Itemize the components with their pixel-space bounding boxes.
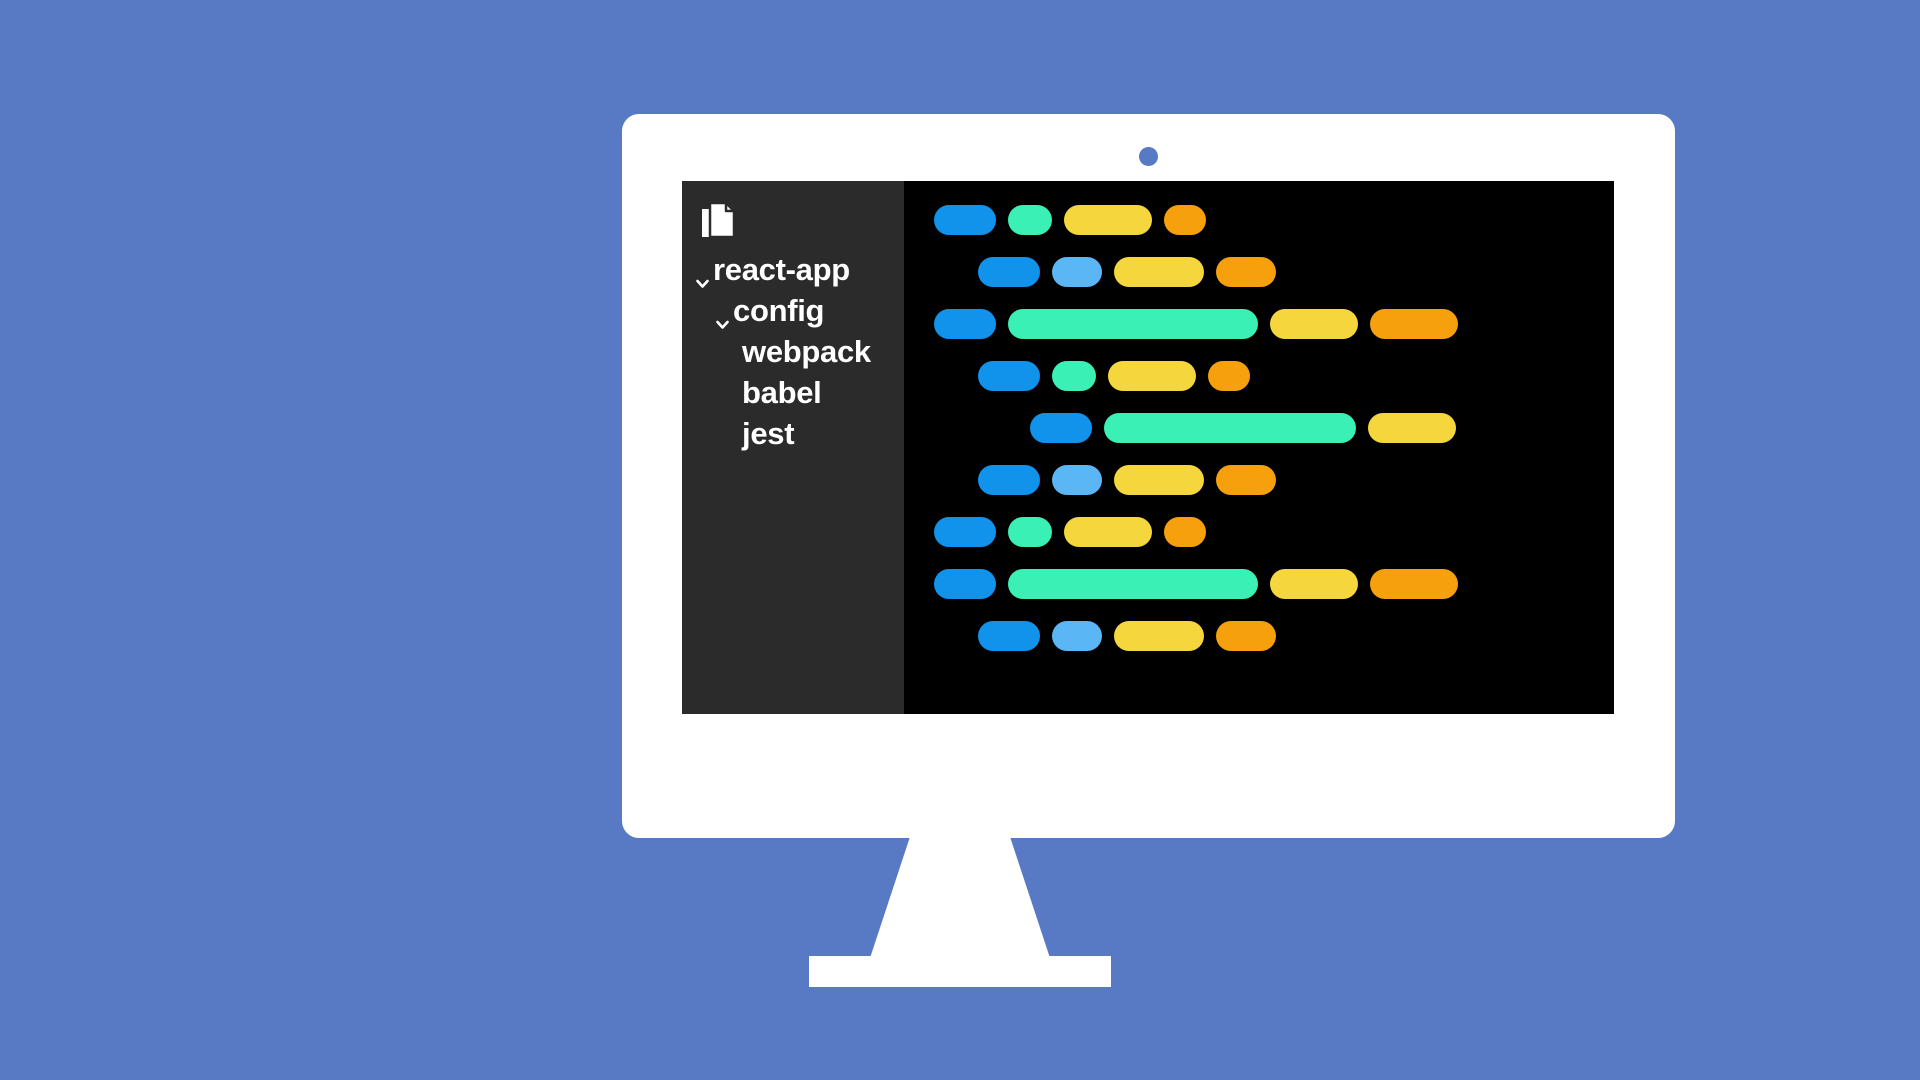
- tree-item-config[interactable]: config: [682, 290, 904, 331]
- monitor-screen: react-appconfigwebpackbabeljest: [682, 181, 1614, 714]
- code-token: [934, 205, 996, 235]
- monitor-stand-base: [809, 956, 1111, 987]
- code-token: [1114, 257, 1204, 287]
- code-token: [978, 361, 1040, 391]
- code-editor-pane[interactable]: [904, 181, 1614, 714]
- code-token: [978, 257, 1040, 287]
- tree-item-label: babel: [742, 372, 821, 413]
- illustration-stage: react-appconfigwebpackbabeljest: [0, 0, 1920, 1080]
- copy-documents-icon: [700, 201, 738, 245]
- code-token: [1052, 361, 1096, 391]
- code-token: [1370, 309, 1458, 339]
- tree-item-label: jest: [742, 413, 794, 454]
- code-token: [1064, 517, 1152, 547]
- tree-item-label: react-app: [713, 249, 850, 290]
- tree-item-jest[interactable]: jest: [682, 413, 904, 454]
- code-token: [1052, 621, 1102, 651]
- tree-item-react-app[interactable]: react-app: [682, 249, 904, 290]
- code-token: [978, 621, 1040, 651]
- code-token: [1216, 465, 1276, 495]
- chevron-down-icon[interactable]: [694, 261, 711, 278]
- code-token: [1216, 621, 1276, 651]
- code-token: [934, 569, 996, 599]
- code-token: [1030, 413, 1092, 443]
- code-token: [934, 309, 996, 339]
- code-token: [1368, 413, 1456, 443]
- code-token: [1216, 257, 1276, 287]
- code-token: [1108, 361, 1196, 391]
- tree-item-label: webpack: [742, 331, 871, 372]
- file-explorer-sidebar: react-appconfigwebpackbabeljest: [682, 181, 904, 714]
- code-token: [1064, 205, 1152, 235]
- code-token: [1008, 517, 1052, 547]
- file-tree: react-appconfigwebpackbabeljest: [682, 249, 904, 454]
- code-token: [1052, 257, 1102, 287]
- code-token: [1208, 361, 1250, 391]
- code-token: [1114, 621, 1204, 651]
- code-token: [1008, 569, 1258, 599]
- code-token: [1104, 413, 1356, 443]
- monitor-stand-neck: [870, 838, 1050, 958]
- code-token: [1270, 309, 1358, 339]
- code-token: [1370, 569, 1458, 599]
- code-token: [1114, 465, 1204, 495]
- code-token: [934, 517, 996, 547]
- code-token: [1008, 205, 1052, 235]
- tree-item-babel[interactable]: babel: [682, 372, 904, 413]
- tree-item-webpack[interactable]: webpack: [682, 331, 904, 372]
- code-token: [1008, 309, 1258, 339]
- code-token: [1052, 465, 1102, 495]
- tree-item-label: config: [733, 290, 824, 331]
- chevron-down-icon[interactable]: [714, 302, 731, 319]
- code-token: [1164, 205, 1206, 235]
- code-token: [1270, 569, 1358, 599]
- code-token: [978, 465, 1040, 495]
- webcam-dot-icon: [1139, 147, 1158, 166]
- code-token: [1164, 517, 1206, 547]
